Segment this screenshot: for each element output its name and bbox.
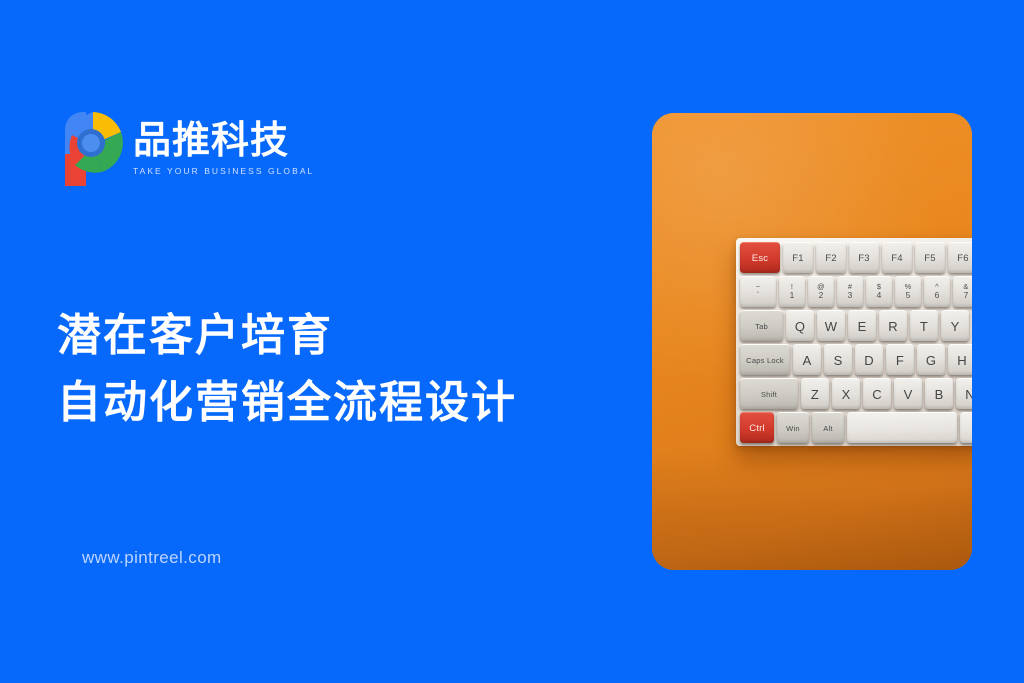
brand-name-cn: 品推科技: [133, 122, 289, 162]
key-7[interactable]: &7: [953, 276, 972, 307]
website-url[interactable]: www.pintreel.com: [82, 548, 222, 568]
key-f5[interactable]: F5: [915, 242, 945, 273]
key-alt[interactable]: Alt: [812, 412, 844, 443]
pintreel-p-mark-icon: [62, 110, 124, 188]
key-2[interactable]: @2: [808, 276, 834, 307]
key-w[interactable]: W: [817, 310, 845, 341]
key-q[interactable]: Q: [786, 310, 814, 341]
key-legend-lower: 2: [819, 291, 824, 300]
keyboard-row-bottom-row: CtrlWinAlt: [740, 412, 972, 443]
page-title: 潜在客户培育 自动化营销全流程设计: [57, 303, 517, 437]
key-s[interactable]: S: [824, 344, 852, 375]
key-legend-lower: 4: [877, 291, 882, 300]
key-esc[interactable]: Esc: [740, 242, 780, 273]
key-f2[interactable]: F2: [816, 242, 846, 273]
key-f1[interactable]: F1: [783, 242, 813, 273]
keyboard-photo-card: EscF1F2F3F4F5F6~`!1@2#3$4%5^6&7TabQWERTY…: [652, 113, 972, 570]
key-z[interactable]: Z: [801, 378, 829, 409]
key-x[interactable]: X: [832, 378, 860, 409]
headline-line-2: 自动化营销全流程设计: [57, 370, 517, 437]
key-f4[interactable]: F4: [882, 242, 912, 273]
key-4[interactable]: $4: [866, 276, 892, 307]
key-tab[interactable]: Tab: [740, 310, 783, 341]
key-t[interactable]: T: [910, 310, 938, 341]
key-n[interactable]: N: [956, 378, 972, 409]
key-5[interactable]: %5: [895, 276, 921, 307]
key-legend-lower: 7: [964, 291, 969, 300]
keyboard-row-home-row: Caps LockASDFGH: [740, 344, 972, 375]
key-legend-lower: `: [757, 291, 760, 300]
key-r[interactable]: R: [879, 310, 907, 341]
key-1[interactable]: !1: [779, 276, 805, 307]
brand-logo[interactable]: 品推科技 TAKE YOUR BUSINESS GLOBAL: [62, 110, 314, 188]
key-f3[interactable]: F3: [849, 242, 879, 273]
left-content-column: 品推科技 TAKE YOUR BUSINESS GLOBAL 潜在客户培育 自动…: [0, 0, 600, 683]
keyboard-row-function-row: EscF1F2F3F4F5F6: [740, 242, 972, 273]
key-6[interactable]: ^6: [924, 276, 950, 307]
key-legend-lower: 3: [848, 291, 853, 300]
brand-tagline: TAKE YOUR BUSINESS GLOBAL: [133, 166, 314, 176]
key-c[interactable]: C: [863, 378, 891, 409]
key-b[interactable]: B: [925, 378, 953, 409]
keyboard-row-number-row: ~`!1@2#3$4%5^6&7: [740, 276, 972, 307]
key-f6[interactable]: F6: [948, 242, 972, 273]
key-g[interactable]: G: [917, 344, 945, 375]
key-win[interactable]: Win: [777, 412, 809, 443]
keyboard-rows: EscF1F2F3F4F5F6~`!1@2#3$4%5^6&7TabQWERTY…: [740, 242, 972, 443]
card-bottom-shading: [652, 450, 972, 570]
key-y[interactable]: Y: [941, 310, 969, 341]
key-caps-lock[interactable]: Caps Lock: [740, 344, 790, 375]
key-legend-lower: 6: [935, 291, 940, 300]
key-h[interactable]: H: [948, 344, 972, 375]
key-e[interactable]: E: [848, 310, 876, 341]
keyboard-row-shift-row: ShiftZXCVBN: [740, 378, 972, 409]
key-f[interactable]: F: [886, 344, 914, 375]
key-v[interactable]: V: [894, 378, 922, 409]
key-`[interactable]: ~`: [740, 276, 776, 307]
key-a[interactable]: A: [793, 344, 821, 375]
key-blank[interactable]: [960, 412, 972, 443]
key-ctrl[interactable]: Ctrl: [740, 412, 774, 443]
mechanical-keyboard: EscF1F2F3F4F5F6~`!1@2#3$4%5^6&7TabQWERTY…: [736, 238, 972, 446]
key-shift[interactable]: Shift: [740, 378, 798, 409]
keyboard-row-qwerty-row: TabQWERTY: [740, 310, 972, 341]
key-legend-lower: 5: [906, 291, 911, 300]
key-legend-lower: 1: [790, 291, 795, 300]
key-blank[interactable]: [847, 412, 957, 443]
headline-line-1: 潜在客户培育: [57, 303, 517, 370]
key-d[interactable]: D: [855, 344, 883, 375]
key-3[interactable]: #3: [837, 276, 863, 307]
